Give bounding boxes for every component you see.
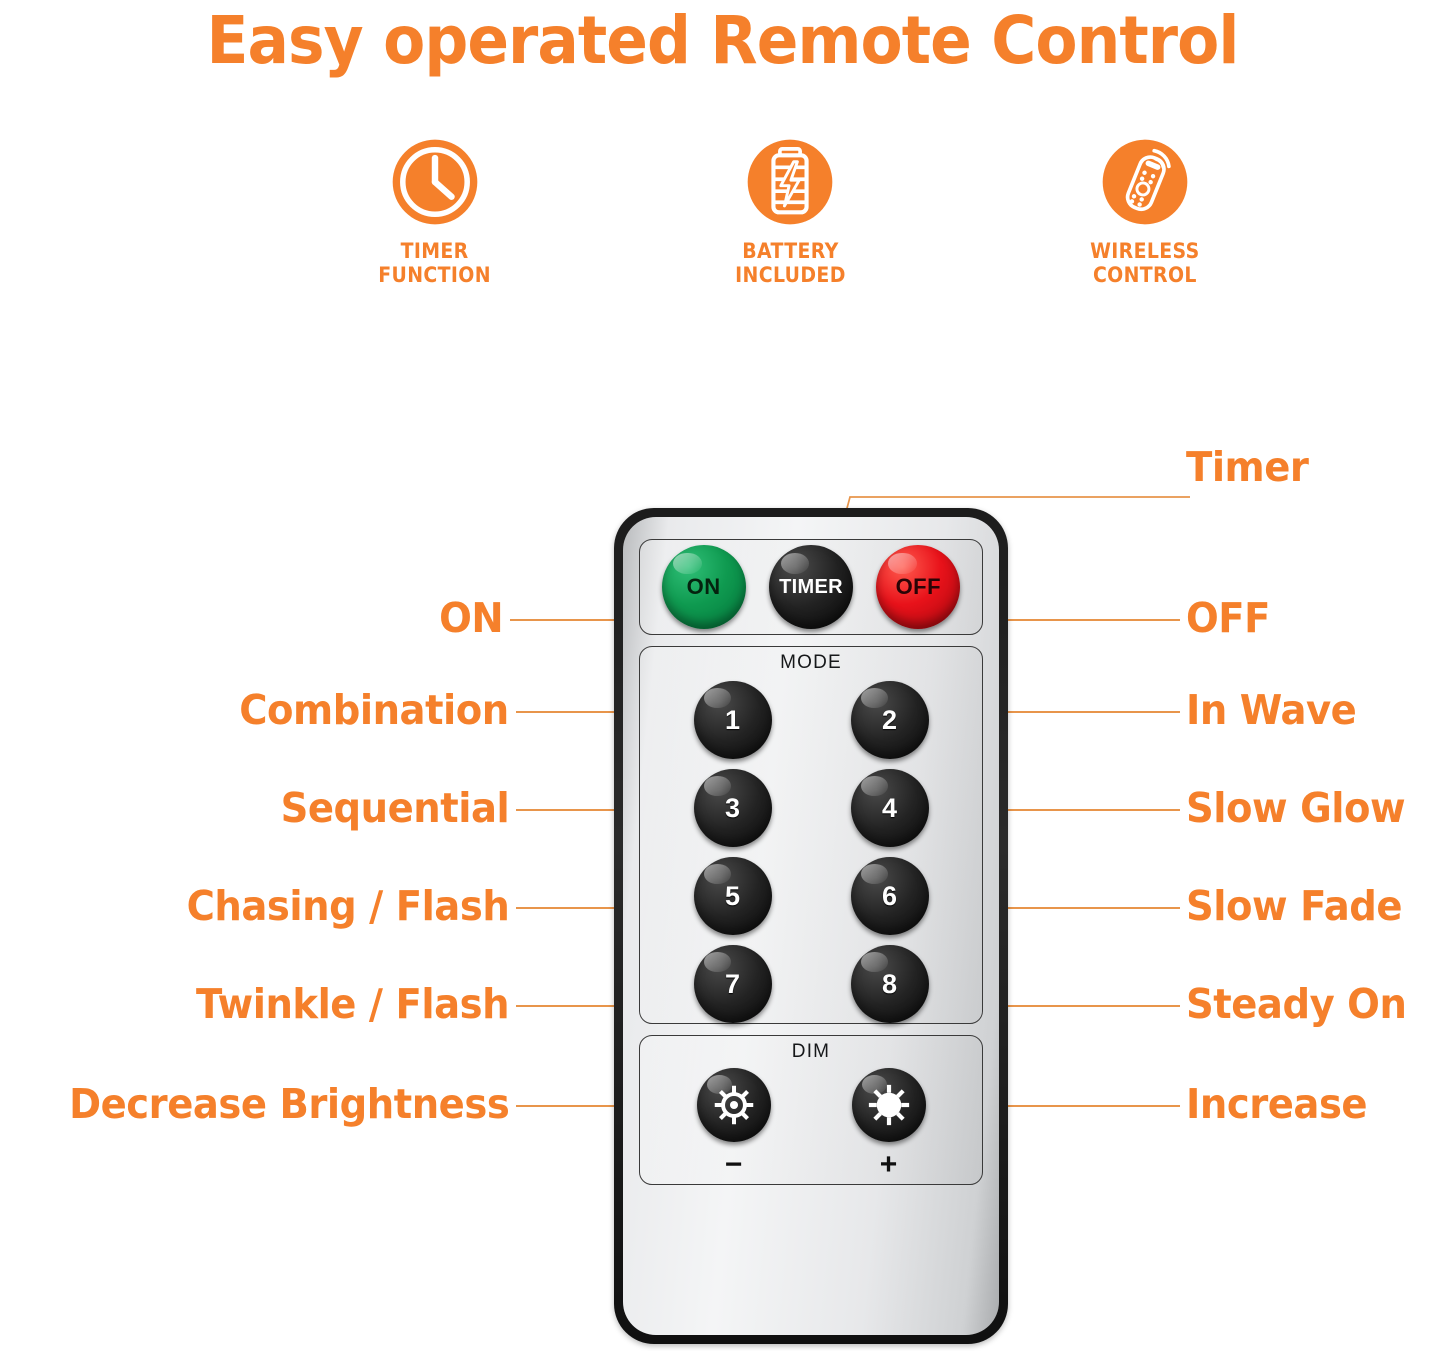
callout-increase: Increase (1186, 1084, 1367, 1125)
callout-twinkle-flash: Twinkle / Flash (196, 984, 509, 1025)
mode-button-grid: 1 2 3 4 5 6 7 8 (640, 681, 982, 1023)
mode-button-6[interactable]: 6 (851, 857, 929, 935)
callout-in-wave: In Wave (1186, 690, 1356, 731)
dim-caption: DIM (640, 1041, 982, 1063)
dim-panel: DIM (639, 1035, 983, 1185)
dim-decrease-sign: − (725, 1150, 743, 1180)
callout-decrease-brightness: Decrease Brightness (69, 1084, 509, 1125)
mode-button-4[interactable]: 4 (851, 769, 929, 847)
brightness-high-icon (861, 1077, 917, 1133)
dim-increase-sign: + (880, 1150, 898, 1180)
mode-button-7[interactable]: 7 (694, 945, 772, 1023)
callout-combination: Combination (239, 690, 509, 731)
mode-button-2[interactable]: 2 (851, 681, 929, 759)
callout-off: OFF (1186, 598, 1270, 639)
feature-wireless-control: WIRELESS CONTROL (1010, 136, 1280, 287)
page-title: Easy operated Remote Control (51, 2, 1395, 79)
mode-button-5[interactable]: 5 (694, 857, 772, 935)
mode-button-3[interactable]: 3 (694, 769, 772, 847)
dim-decrease-button[interactable] (697, 1068, 771, 1142)
on-button[interactable]: ON (662, 545, 746, 629)
callout-steady-on: Steady On (1186, 984, 1406, 1025)
remote-control-device: ON TIMER OFF MODE 1 2 3 4 5 6 (614, 508, 1008, 1344)
feature-label-timer: TIMER FUNCTION (379, 240, 492, 287)
mode-button-8[interactable]: 8 (851, 945, 929, 1023)
callout-timer: Timer (1186, 447, 1308, 488)
dim-increase-group: + (852, 1068, 926, 1180)
power-panel: ON TIMER OFF (639, 539, 983, 635)
callout-sequential: Sequential (280, 788, 509, 829)
callout-on: ON (439, 598, 503, 639)
callout-slow-glow: Slow Glow (1186, 788, 1405, 829)
dim-button-row: − (640, 1068, 982, 1180)
feature-badge-row: TIMER FUNCTION BATTERY INCLUDED (300, 136, 1280, 306)
off-button[interactable]: OFF (876, 545, 960, 629)
mode-panel: MODE 1 2 3 4 5 6 7 8 (639, 646, 983, 1024)
dim-decrease-group: − (697, 1068, 771, 1180)
brightness-low-icon (706, 1077, 762, 1133)
feature-label-wireless: WIRELESS CONTROL (1090, 240, 1200, 287)
timer-button[interactable]: TIMER (769, 545, 853, 629)
remote-faceplate: ON TIMER OFF MODE 1 2 3 4 5 6 (623, 517, 999, 1335)
mode-button-1[interactable]: 1 (694, 681, 772, 759)
remote-signal-icon (1099, 136, 1191, 228)
battery-icon (744, 136, 836, 228)
dim-increase-button[interactable] (852, 1068, 926, 1142)
callout-chasing-flash: Chasing / Flash (186, 886, 509, 927)
feature-battery-included: BATTERY INCLUDED (655, 136, 925, 287)
callout-slow-fade: Slow Fade (1186, 886, 1402, 927)
mode-caption: MODE (640, 652, 982, 674)
clock-icon (389, 136, 481, 228)
feature-label-battery: BATTERY INCLUDED (735, 240, 846, 287)
feature-timer-function: TIMER FUNCTION (300, 136, 570, 287)
infographic-canvas: Easy operated Remote Control TIMER FUNCT… (0, 0, 1445, 1351)
